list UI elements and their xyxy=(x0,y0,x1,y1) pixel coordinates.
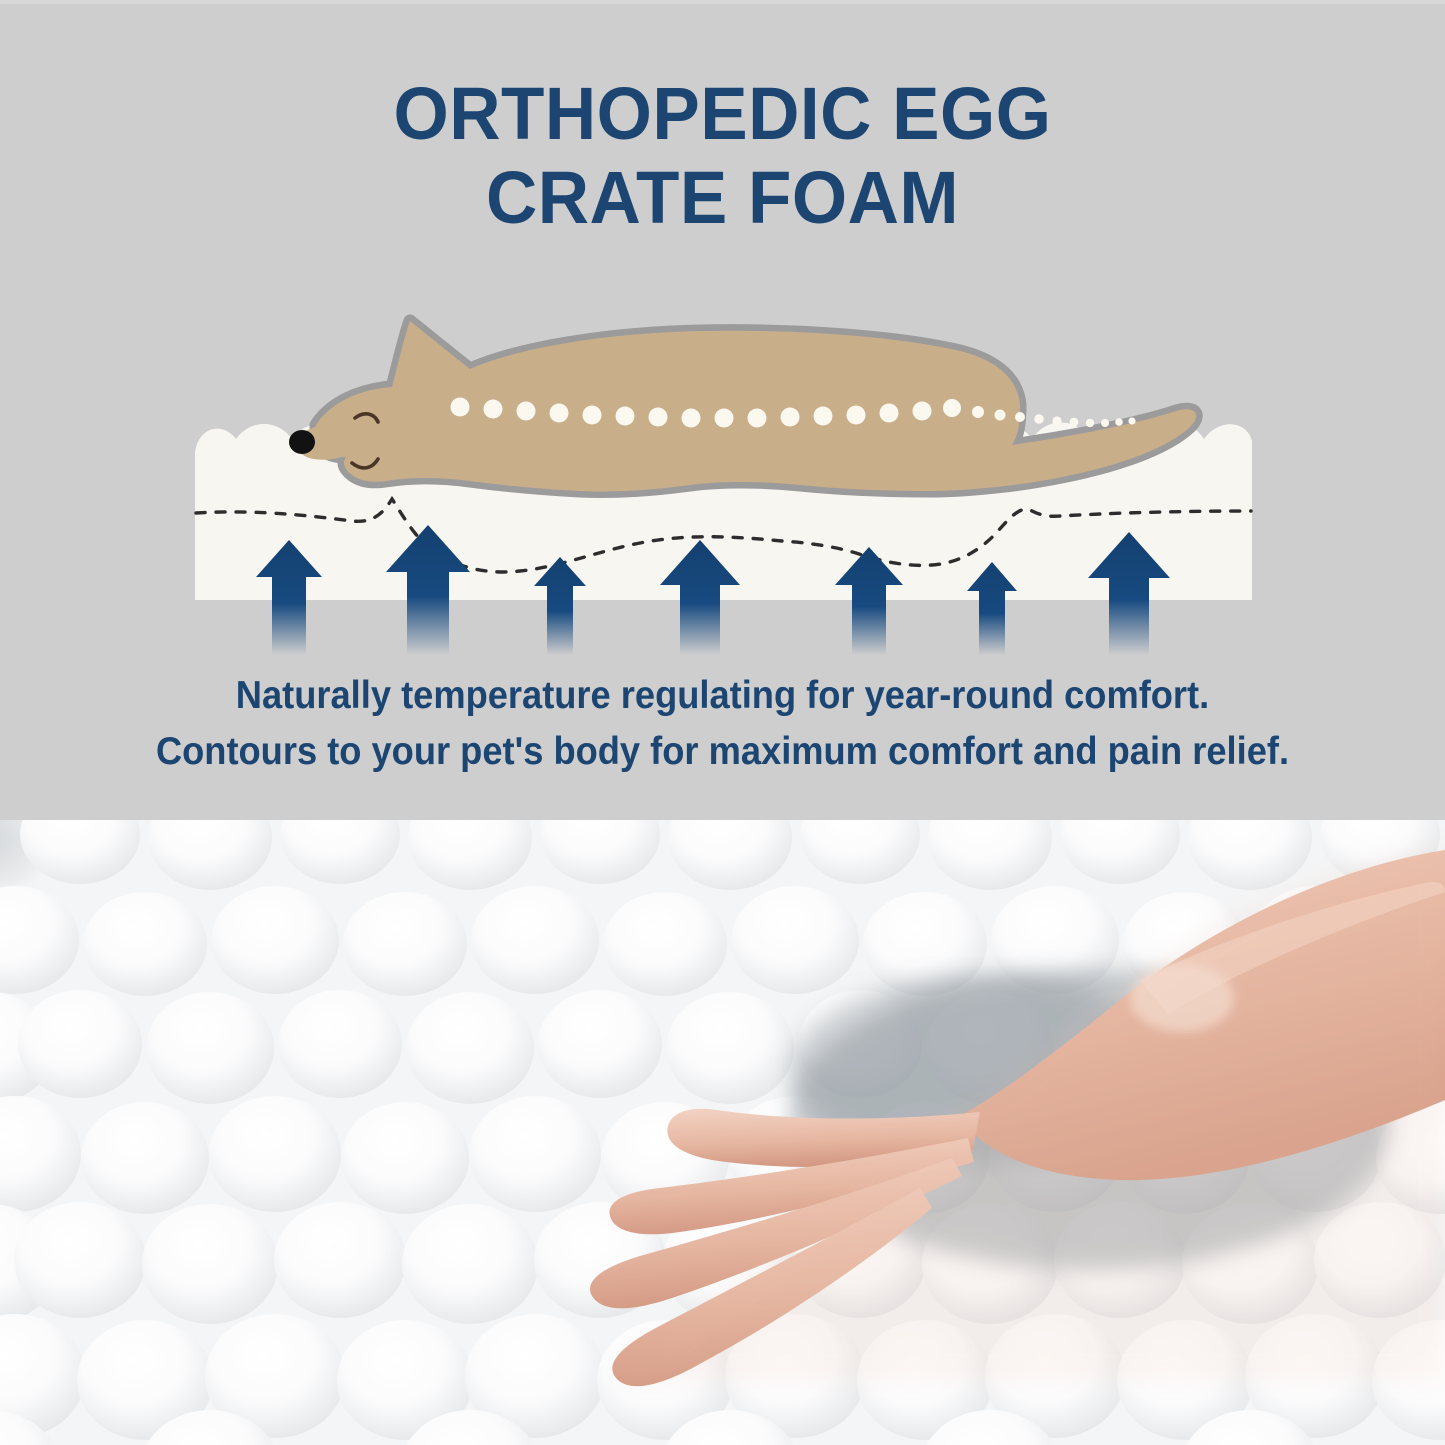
benefit-text: Naturally temperature regulating for yea… xyxy=(51,668,1395,780)
benefit-line-2: Contours to your pet's body for maximum … xyxy=(51,724,1395,780)
headline-line-2: CRATE FOAM xyxy=(29,156,1416,240)
product-infographic: ORTHOPEDIC EGG CRATE FOAM xyxy=(0,0,1445,1445)
top-edge-highlight xyxy=(0,0,1445,4)
foam-texture-photo xyxy=(0,820,1445,1445)
sleeping-dog xyxy=(289,321,1196,492)
info-panel: ORTHOPEDIC EGG CRATE FOAM xyxy=(0,0,1445,820)
dog-on-foam-illustration xyxy=(0,285,1445,655)
headline-line-1: ORTHOPEDIC EGG xyxy=(29,72,1416,156)
page-title: ORTHOPEDIC EGG CRATE FOAM xyxy=(29,72,1416,240)
dog-nose-icon xyxy=(289,430,315,454)
benefit-line-1: Naturally temperature regulating for yea… xyxy=(51,668,1395,724)
